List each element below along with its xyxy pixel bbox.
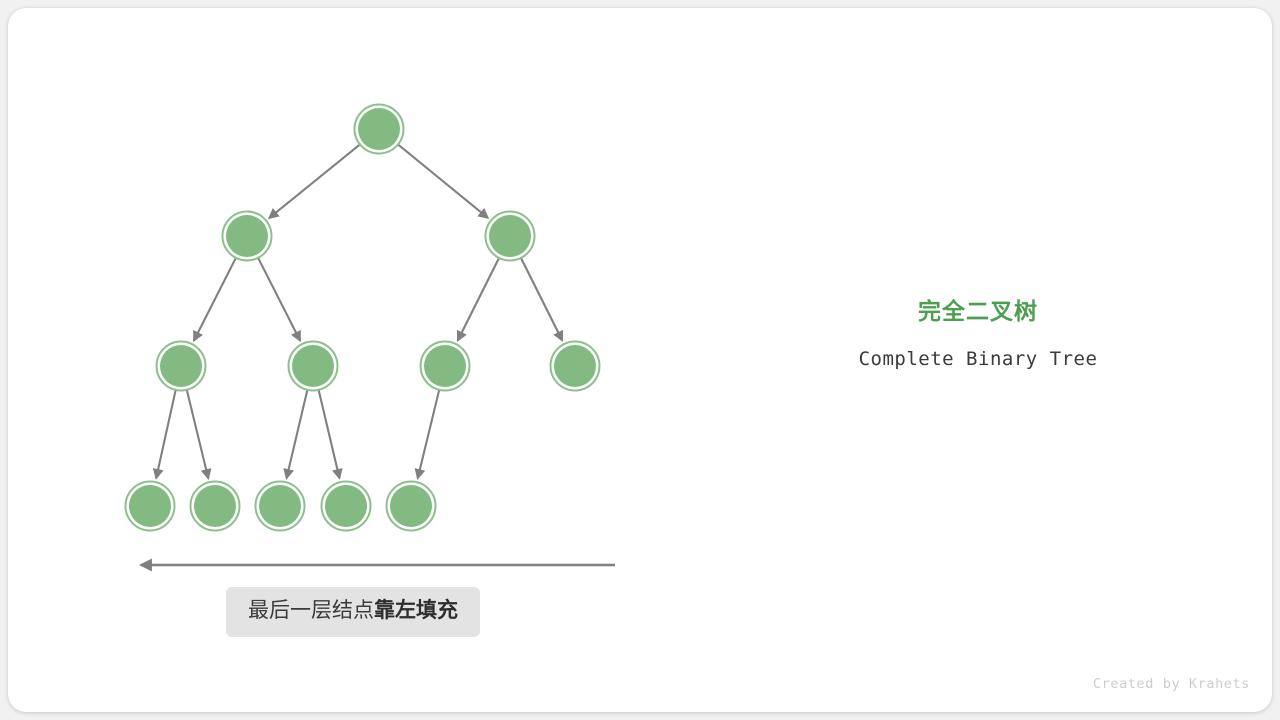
- tree-node-circle: [489, 215, 531, 257]
- callout-text-bold: 靠左填充: [374, 599, 458, 622]
- tree-node: [126, 482, 175, 531]
- diagram-card: 完全二叉树 Complete Binary Tree 最后一层结点靠左填充 Cr…: [8, 8, 1272, 712]
- tree-node: [322, 482, 371, 531]
- tree-edge: [156, 389, 176, 478]
- tree-edge: [418, 389, 440, 478]
- tree-node: [486, 212, 535, 261]
- tree-edge: [194, 257, 236, 341]
- tree-node: [223, 212, 272, 261]
- tree-node-circle: [129, 485, 171, 527]
- legend-block: 完全二叉树 Complete Binary Tree: [768, 296, 1188, 370]
- tree-node: [191, 482, 240, 531]
- tree-node: [157, 342, 206, 391]
- tree-node: [256, 482, 305, 531]
- tree-node-circle: [259, 485, 301, 527]
- tree-edge: [397, 144, 488, 218]
- tree-node: [355, 105, 404, 154]
- edge-layer: [156, 144, 562, 479]
- node-layer: [126, 105, 600, 531]
- tree-node-circle: [226, 215, 268, 257]
- tree-node-circle: [390, 485, 432, 527]
- tree-node: [289, 342, 338, 391]
- tree-node-circle: [160, 345, 202, 387]
- tree-edge: [458, 257, 500, 340]
- legend-subtitle: Complete Binary Tree: [768, 348, 1188, 370]
- tree-node-circle: [424, 345, 466, 387]
- tree-node-circle: [325, 485, 367, 527]
- tree-edge: [318, 389, 339, 478]
- tree-edge: [187, 389, 209, 478]
- tree-node: [387, 482, 436, 531]
- callout-text-normal: 最后一层结点: [248, 599, 374, 622]
- tree-edge: [521, 257, 563, 340]
- legend-title: 完全二叉树: [768, 296, 1188, 326]
- credit-text: Created by Krahets: [1093, 676, 1250, 692]
- tree-node-circle: [194, 485, 236, 527]
- tree-node-circle: [554, 345, 596, 387]
- tree-edge: [287, 389, 308, 478]
- callout-label: 最后一层结点靠左填充: [226, 587, 480, 637]
- tree-node: [551, 342, 600, 391]
- tree-node-circle: [358, 108, 400, 150]
- tree-node-circle: [292, 345, 334, 387]
- tree-node: [421, 342, 470, 391]
- tree-edge: [258, 257, 300, 341]
- tree-edge: [269, 144, 361, 218]
